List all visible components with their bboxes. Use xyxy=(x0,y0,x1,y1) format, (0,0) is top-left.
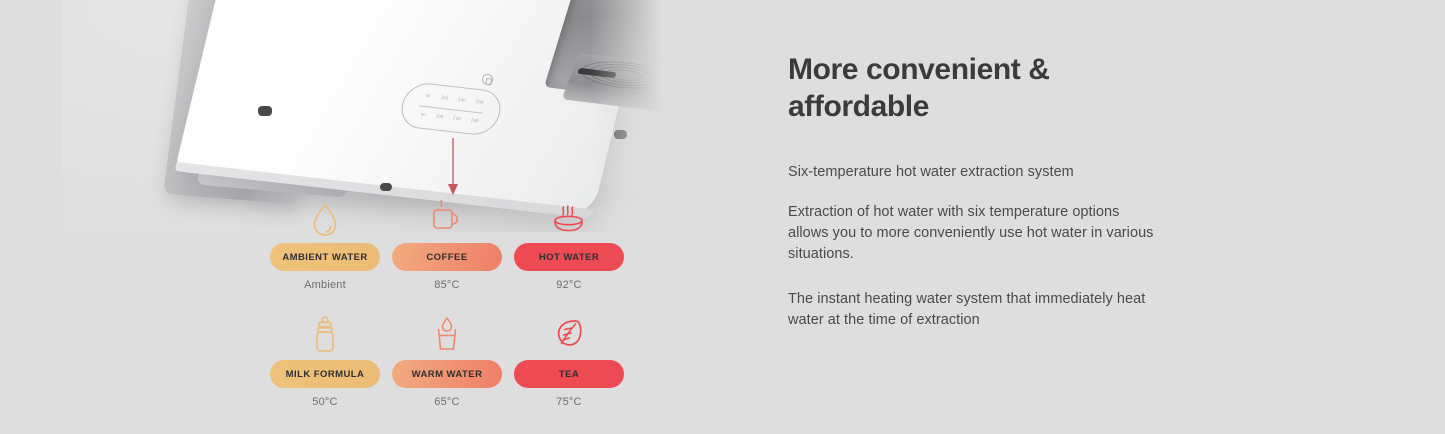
option-row-1: AMBIENT WATER Ambient COFFEE 85°C xyxy=(270,196,642,291)
option-temperature: 85°C xyxy=(434,279,459,291)
dispenser-foot xyxy=(380,183,392,191)
control-panel-row-bottom: 00 00 00 00 xyxy=(414,111,485,124)
dispenser-foot xyxy=(258,106,272,116)
option-temperature: 92°C xyxy=(556,279,581,291)
temperature-option-grid: AMBIENT WATER Ambient COFFEE 85°C xyxy=(270,196,642,416)
option-badge[interactable]: COFFEE xyxy=(392,243,502,271)
option-temperature: 75°C xyxy=(556,396,581,408)
cp-key[interactable]: 00 xyxy=(441,95,450,101)
option-temperature: Ambient xyxy=(304,279,346,291)
control-panel-row-top: 00 00 00 00 xyxy=(419,92,490,105)
option-hot-water[interactable]: HOT WATER 92°C xyxy=(514,196,624,291)
option-ambient-water[interactable]: AMBIENT WATER Ambient xyxy=(270,196,380,291)
cp-key[interactable]: 00 xyxy=(458,97,467,103)
water-drop-icon xyxy=(311,196,339,238)
body-paragraph-2: The instant heating water system that im… xyxy=(788,289,1173,330)
option-row-2: MILK FORMULA 50°C WARM WATER 65°C xyxy=(270,313,642,408)
tea-leaf-icon xyxy=(553,313,585,355)
option-temperature: 65°C xyxy=(434,396,459,408)
dispenser-foot xyxy=(614,130,627,139)
cp-key[interactable]: 00 xyxy=(476,99,485,105)
coffee-cup-icon xyxy=(430,196,464,238)
body-paragraph-1: Extraction of hot water with six tempera… xyxy=(788,202,1160,264)
glass-with-drop-icon xyxy=(433,313,461,355)
cp-key[interactable]: 00 xyxy=(471,117,480,123)
option-tea[interactable]: TEA 75°C xyxy=(514,313,624,408)
hot-bath-steam-icon xyxy=(551,196,587,238)
option-temperature: 50°C xyxy=(312,396,337,408)
lede-text: Six-temperature hot water extraction sys… xyxy=(788,162,1408,183)
option-badge[interactable]: WARM WATER xyxy=(392,360,502,388)
option-coffee[interactable]: COFFEE 85°C xyxy=(392,196,502,291)
option-badge[interactable]: MILK FORMULA xyxy=(270,360,380,388)
cp-key[interactable]: 00 xyxy=(419,112,427,118)
callout-arrow-head xyxy=(448,184,458,195)
callout-arrow-stem xyxy=(452,138,454,186)
promo-page: 00 00 00 00 00 00 00 00 xyxy=(0,0,1445,434)
copy-block: More convenient & affordable Six-tempera… xyxy=(788,52,1408,330)
cp-key[interactable]: 00 xyxy=(424,93,432,99)
option-warm-water[interactable]: WARM WATER 65°C xyxy=(392,313,502,408)
option-badge[interactable]: HOT WATER xyxy=(514,243,624,271)
option-badge[interactable]: AMBIENT WATER xyxy=(270,243,380,271)
cp-key[interactable]: 00 xyxy=(454,115,463,121)
option-badge[interactable]: TEA xyxy=(514,360,624,388)
option-milk-formula[interactable]: MILK FORMULA 50°C xyxy=(270,313,380,408)
cp-key[interactable]: 00 xyxy=(436,113,445,119)
page-title: More convenient & affordable xyxy=(788,52,1088,126)
callout-arrow-icon xyxy=(452,138,454,200)
baby-bottle-icon xyxy=(312,313,338,355)
